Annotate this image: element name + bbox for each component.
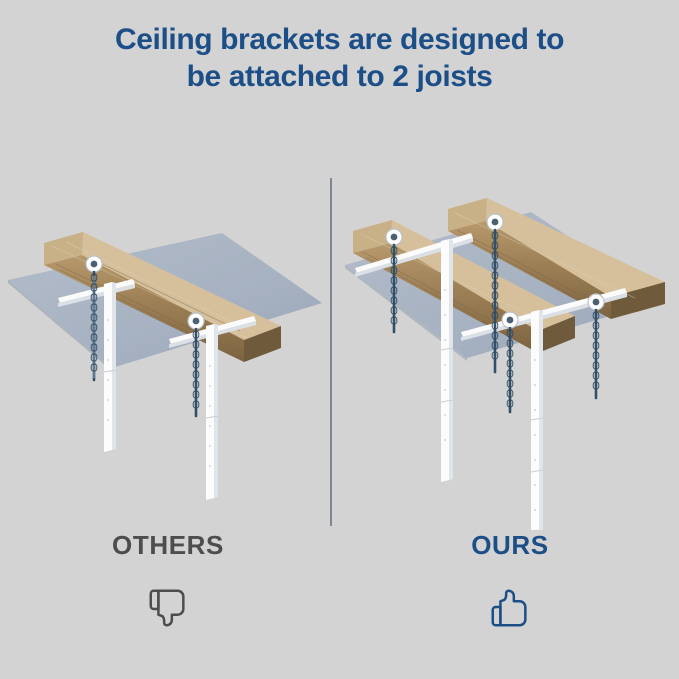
others-label: OTHERS [8, 532, 328, 558]
page-title: Ceiling brackets are designed to be atta… [0, 22, 679, 95]
illustration-others [0, 180, 330, 530]
comparison-column-ours: OURS [350, 532, 670, 636]
infographic-root: Ceiling brackets are designed to be atta… [0, 0, 679, 679]
page-title-line-1: Ceiling brackets are designed to [0, 22, 679, 59]
illustration-ours [335, 180, 665, 530]
page-title-line-2: be attached to 2 joists [0, 59, 679, 96]
vertical-divider [330, 178, 332, 526]
comparison-column-others: OTHERS [8, 532, 328, 636]
thumbs-down-icon [8, 580, 328, 636]
thumbs-up-icon [350, 580, 670, 636]
ours-label: OURS [350, 532, 670, 558]
